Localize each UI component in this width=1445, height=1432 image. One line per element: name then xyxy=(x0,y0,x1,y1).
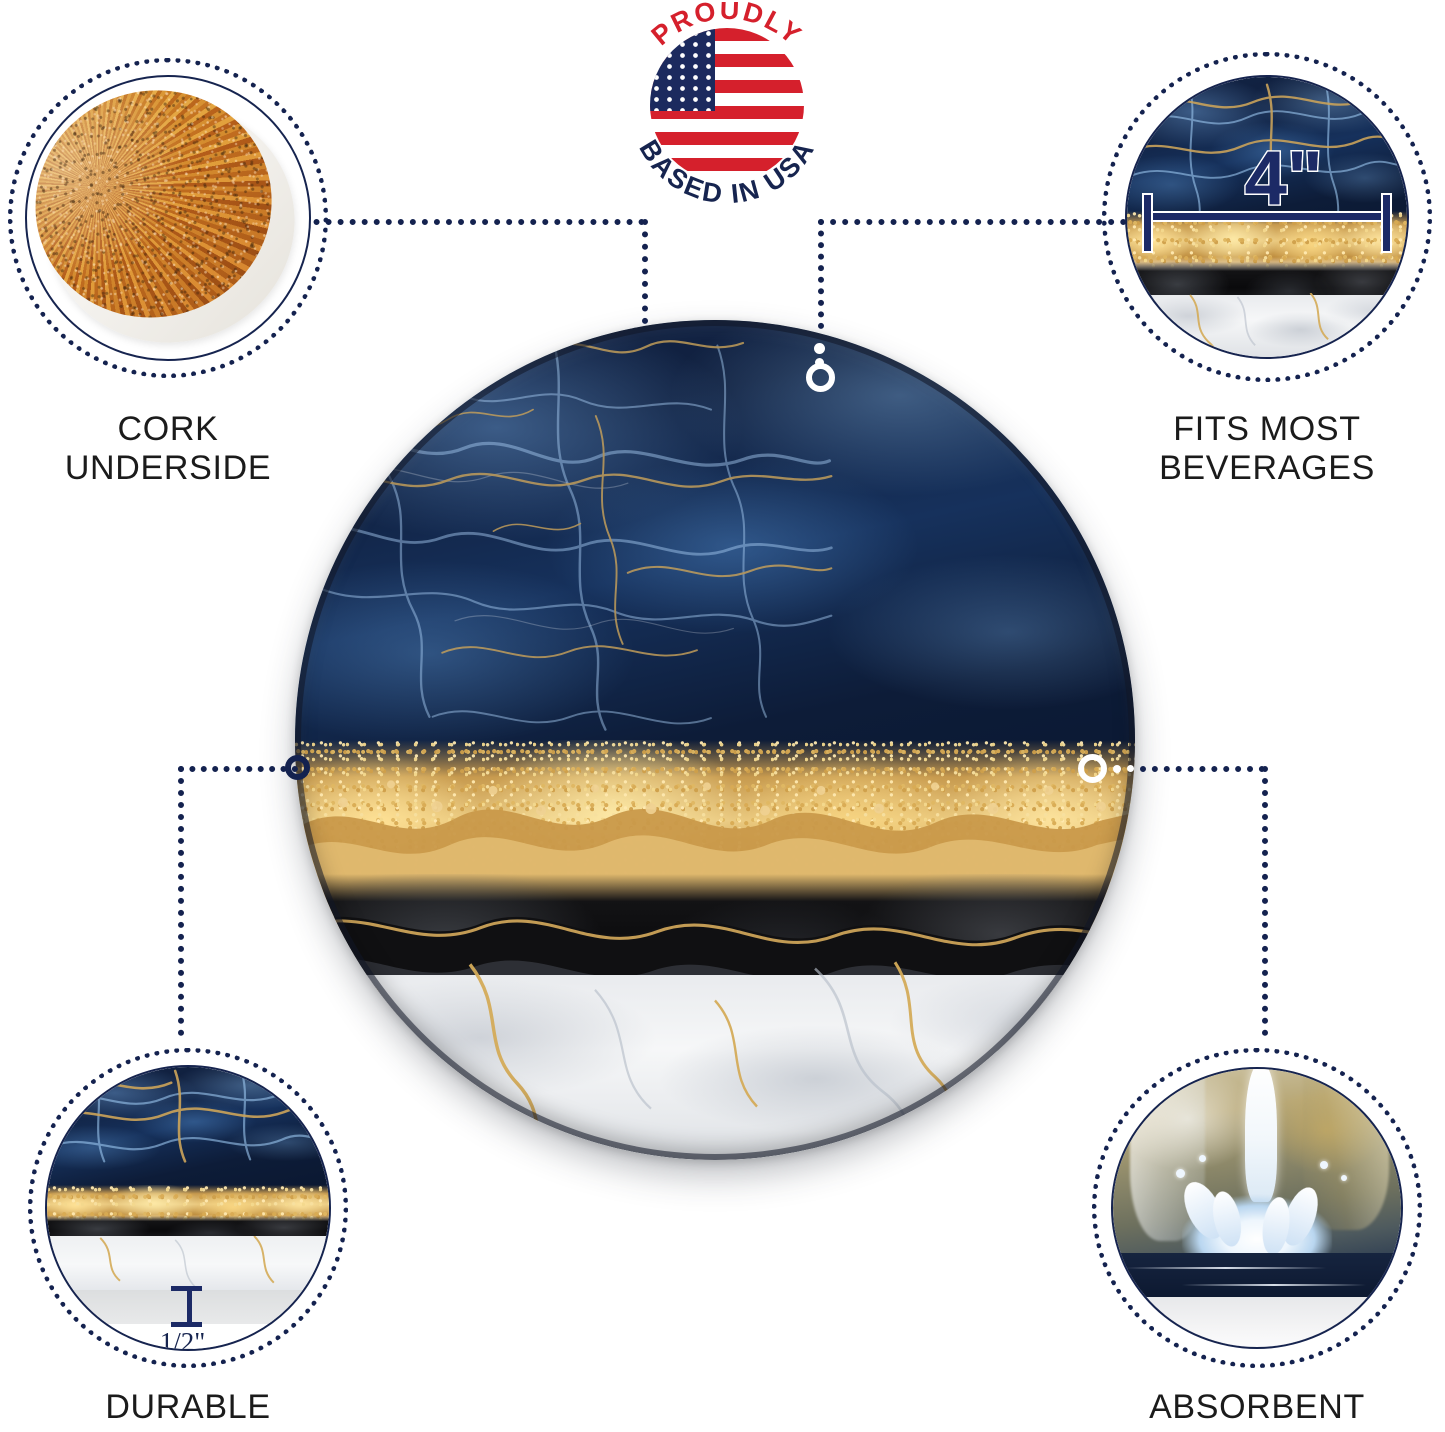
beverages-inner-ring: 4" 4" xyxy=(1125,75,1409,359)
connector-durable-horizontal xyxy=(178,766,298,772)
feature-fits-most-beverages[interactable]: 4" 4" FITS MOST BEVERAGES xyxy=(1102,52,1432,498)
coaster-dark-surface xyxy=(1113,1253,1401,1297)
cork-inner-ring xyxy=(25,75,311,361)
water-splash-icon xyxy=(1113,1069,1401,1347)
cork-surface xyxy=(27,77,301,348)
diameter-cap-right xyxy=(1383,195,1390,251)
connector-absorbent-vertical xyxy=(1262,766,1268,1036)
feature-durable-label: DURABLE xyxy=(28,1388,348,1427)
durable-inner-ring: 1/2" xyxy=(45,1065,331,1351)
marker-right[interactable] xyxy=(1078,754,1107,783)
white-marble-veins xyxy=(295,958,1135,1160)
feature-cork-underside-label: CORK UNDERSIDE xyxy=(8,410,328,489)
connector-top-drop-vertical xyxy=(642,219,648,324)
marker-right-lead-dot-1 xyxy=(1113,765,1121,773)
durable-blue-veins xyxy=(47,1067,329,1197)
beverages-white-veins xyxy=(1127,293,1407,357)
feature-absorbent-label: ABSORBENT xyxy=(1092,1388,1422,1427)
connector-absorbent-horizontal xyxy=(1140,766,1265,772)
diameter-cap-left xyxy=(1144,195,1151,251)
cork-grain-texture xyxy=(27,77,301,348)
badge-bottom-text: BASED IN USA xyxy=(633,135,820,210)
feature-cork-underside[interactable]: CORK UNDERSIDE xyxy=(8,58,328,498)
surface-silver-vein-2 xyxy=(1182,1284,1366,1286)
feature-durable[interactable]: 1/2" DURABLE xyxy=(28,1048,348,1432)
cork-disc-icon xyxy=(27,77,309,359)
marble-diameter-icon: 4" 4" xyxy=(1127,77,1407,357)
feature-absorbent[interactable]: ABSORBENT xyxy=(1092,1048,1422,1432)
diameter-value: 4" xyxy=(1245,141,1323,217)
svg-text:PROUDLY: PROUDLY xyxy=(646,2,809,51)
thickness-value: 1/2" xyxy=(160,1329,206,1349)
connector-beverages-drop xyxy=(818,219,824,329)
product-coaster-image xyxy=(295,320,1135,1160)
product-infographic: PROUDLY BASED IN USA CORK UNDERSIDE xyxy=(0,0,1445,1432)
badge-top-text: PROUDLY xyxy=(646,2,809,51)
marble-edge-thickness-icon: 1/2" xyxy=(47,1067,329,1349)
durable-white-veins xyxy=(47,1236,329,1292)
badge-arc-text: PROUDLY BASED IN USA xyxy=(612,2,842,217)
svg-text:BASED IN USA: BASED IN USA xyxy=(633,135,820,210)
marker-top[interactable] xyxy=(806,363,835,392)
absorbent-inner-ring xyxy=(1111,1067,1403,1349)
thickness-cap-top xyxy=(171,1286,202,1291)
splash-droplet-4 xyxy=(1341,1175,1347,1181)
surface-silver-vein-1 xyxy=(1125,1267,1327,1269)
thickness-measure-line xyxy=(187,1287,192,1325)
connector-durable-vertical xyxy=(178,766,184,1036)
marker-right-lead-dot-2 xyxy=(1127,765,1134,772)
proudly-based-in-usa-badge: PROUDLY BASED IN USA xyxy=(612,2,842,217)
table-surface xyxy=(1113,1297,1401,1347)
marker-top-lead-dot-1 xyxy=(814,343,825,354)
feature-fits-most-beverages-label: FITS MOST BEVERAGES xyxy=(1102,410,1432,489)
